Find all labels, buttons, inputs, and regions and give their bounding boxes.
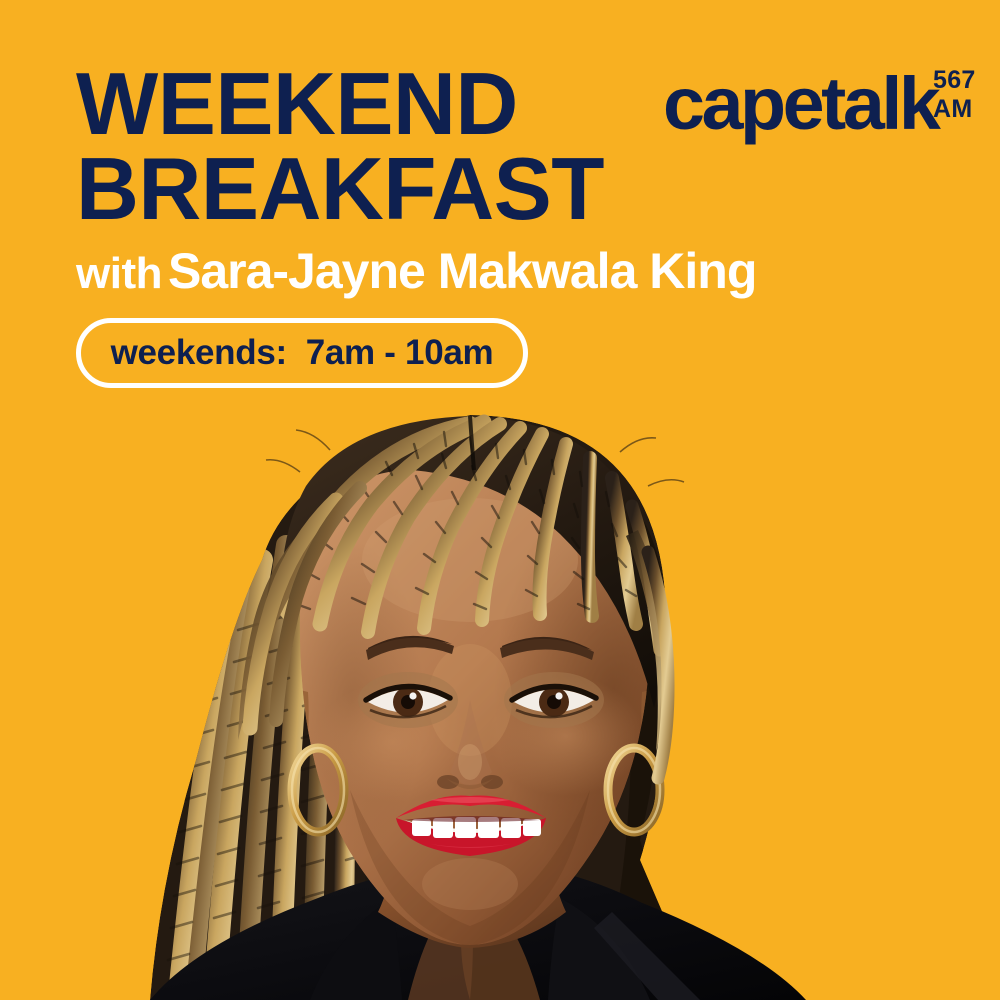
hair-front — [238, 416, 684, 778]
schedule-badge-text: weekends: 7am - 10am — [111, 333, 494, 373]
mouth — [396, 795, 546, 856]
right-eye — [512, 686, 596, 717]
schedule-badge: weekends: 7am - 10am — [76, 318, 528, 388]
poster-canvas: capetalk 567 AM WEEKEND BREAKFAST withSa… — [0, 0, 1000, 1000]
show-title-line-1: WEEKEND — [76, 60, 518, 148]
blazer — [150, 860, 806, 1000]
show-title-line-2: BREAKFAST — [76, 145, 604, 233]
logo-frequency-label: 567 AM — [933, 66, 1000, 124]
hair-back — [150, 415, 700, 1000]
face — [280, 425, 730, 946]
logo-wordmark: capetalk — [663, 68, 937, 139]
neck — [378, 780, 566, 948]
host-credit: withSara-Jayne Makwala King — [76, 246, 756, 296]
host-credit-prefix: with — [76, 249, 162, 298]
left-eye — [366, 686, 450, 717]
host-name: Sara-Jayne Makwala King — [168, 243, 756, 299]
capetalk-logo[interactable]: capetalk 567 AM — [663, 68, 1000, 139]
earrings — [292, 748, 660, 832]
